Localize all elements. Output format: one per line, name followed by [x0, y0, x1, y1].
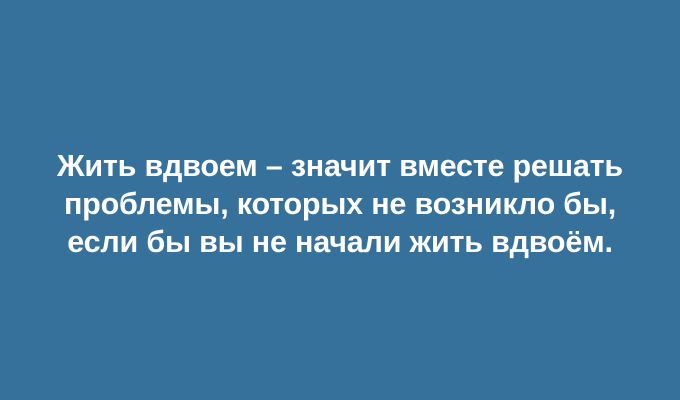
quote-line-2: проблемы, которых не возникло бы, [24, 185, 656, 223]
quote-line-1: Жить вдвоем – значит вместе решать [24, 147, 656, 185]
quote-line-3: если бы вы не начали жить вдвоём. [24, 223, 656, 261]
quote-text-block: Жить вдвоем – значит вместе решать пробл… [0, 147, 680, 261]
quote-card: Жить вдвоем – значит вместе решать пробл… [0, 0, 680, 400]
